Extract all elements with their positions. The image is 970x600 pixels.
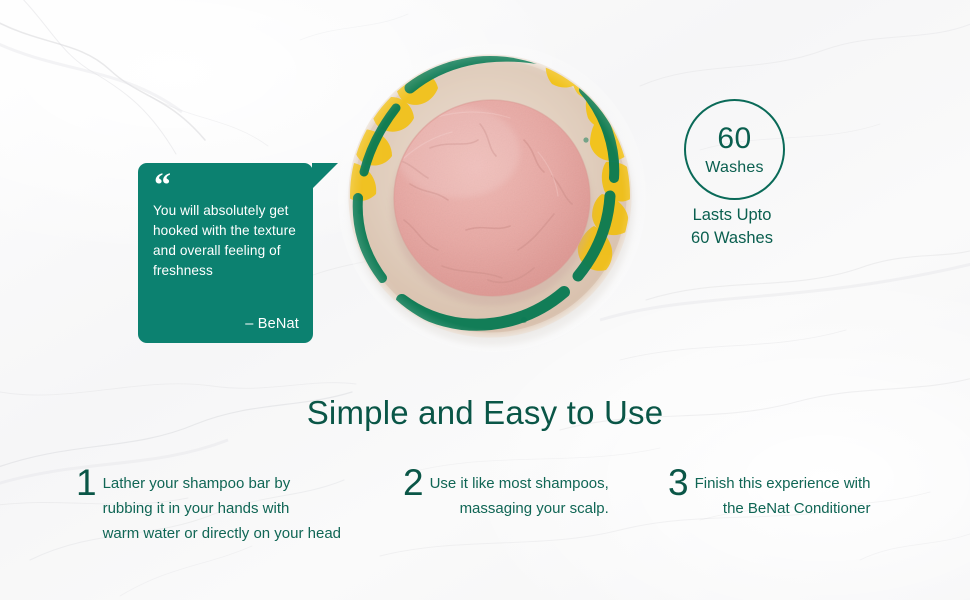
washes-caption-line-1: Lasts Upto (632, 204, 832, 227)
step-item-2: 2 Use it like most shampoos, massaging y… (403, 468, 643, 521)
step-number-3: 3 (668, 468, 689, 498)
washes-caption-line-2: 60 Washes (632, 227, 832, 250)
testimonial-quote-bubble: “ You will absolutely get hooked with th… (138, 163, 313, 343)
quote-bubble-tail (312, 163, 338, 189)
step-3-line-2: the BeNat Conditioner (695, 496, 871, 521)
quote-author: – BeNat (245, 316, 299, 332)
step-number-1: 1 (76, 468, 97, 498)
infographic-root: “ You will absolutely get hooked with th… (0, 0, 970, 600)
washes-badge-unit: Washes (705, 160, 763, 176)
product-photo-shampoo-bar (338, 44, 646, 352)
washes-badge: 60 Washes (684, 99, 785, 200)
step-item-1: 1 Lather your shampoo bar by rubbing it … (76, 468, 396, 546)
quote-text: You will absolutely get hooked with the … (153, 201, 303, 281)
washes-badge-number: 60 (717, 124, 751, 154)
step-1-line-2: rubbing it in your hands with (103, 496, 341, 521)
step-1-line-1: Lather your shampoo bar by (103, 471, 341, 496)
washes-badge-caption: Lasts Upto 60 Washes (632, 204, 832, 250)
step-text-1: Lather your shampoo bar by rubbing it in… (103, 468, 341, 546)
step-number-2: 2 (403, 468, 424, 498)
shampoo-bar-illustration (338, 44, 646, 352)
steps-list: 1 Lather your shampoo bar by rubbing it … (0, 468, 970, 558)
step-2-line-1: Use it like most shampoos, (430, 471, 609, 496)
step-text-2: Use it like most shampoos, massaging you… (430, 468, 609, 521)
step-2-line-2: massaging your scalp. (430, 496, 609, 521)
section-headline: Simple and Easy to Use (0, 394, 970, 432)
quote-mark-icon: “ (154, 169, 172, 203)
step-text-3: Finish this experience with the BeNat Co… (695, 468, 871, 521)
step-1-line-3: warm water or directly on your head (103, 521, 341, 546)
step-3-line-1: Finish this experience with (695, 471, 871, 496)
step-item-3: 3 Finish this experience with the BeNat … (668, 468, 908, 521)
